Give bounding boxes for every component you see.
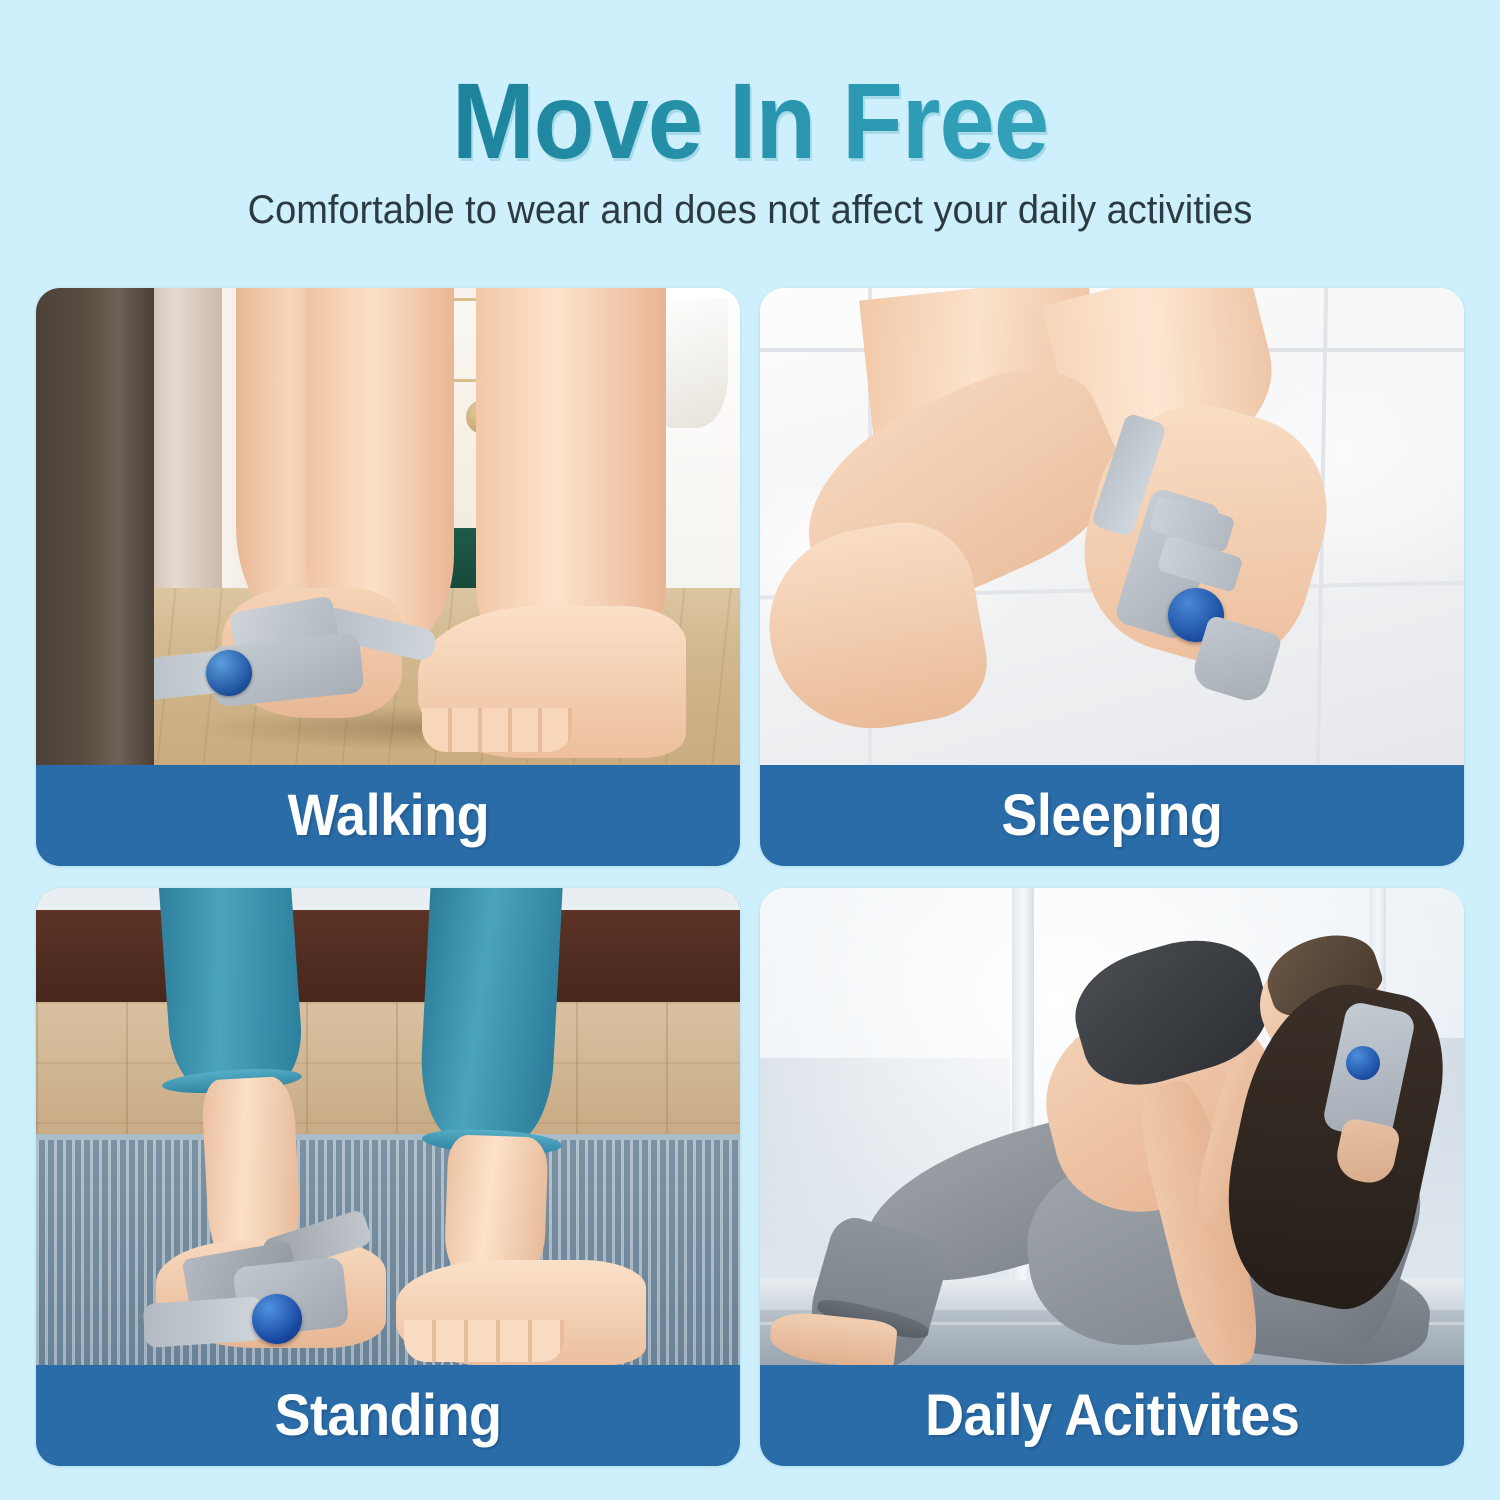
legging-left: [159, 888, 305, 1096]
card-label-standing: Standing: [36, 1365, 740, 1466]
toes: [422, 708, 572, 752]
feature-card-daily-activities[interactable]: Daily Acitivites: [760, 888, 1464, 1466]
brace-blue-knob: [1346, 1046, 1380, 1080]
card-label-text: Sleeping: [1001, 785, 1222, 847]
scene-yoga-by-window: [760, 888, 1464, 1365]
card-label-text: Walking: [287, 785, 489, 847]
wood-floor-planks: [36, 1002, 740, 1134]
feature-card-walking[interactable]: Walking: [36, 288, 740, 866]
photo-standing: [36, 888, 740, 1365]
feature-card-standing[interactable]: Standing: [36, 888, 740, 1466]
photo-daily-activities: [760, 888, 1464, 1365]
page-title: Move In Free: [60, 62, 1440, 180]
header: Move In Free Comfortable to wear and doe…: [0, 0, 1500, 288]
page-subtitle: Comfortable to wear and does not affect …: [38, 185, 1463, 235]
card-label-sleeping: Sleeping: [760, 765, 1464, 866]
brace-toe-arm: [143, 1296, 266, 1348]
scene-bedroom-floor: [36, 288, 740, 765]
scene-yoga-mat: [36, 888, 740, 1365]
foreground-pillar: [36, 288, 154, 765]
yoga-mat-edge: [36, 1134, 740, 1140]
photo-sleeping: [760, 288, 1464, 765]
scene-bed-white-linens: [760, 288, 1464, 765]
product-infographic: Move In Free Comfortable to wear and doe…: [0, 0, 1500, 1500]
toes: [404, 1320, 564, 1362]
brace-blue-knob: [252, 1294, 302, 1344]
feature-card-sleeping[interactable]: Sleeping: [760, 288, 1464, 866]
legging-right: [417, 888, 563, 1147]
baseboard: [36, 910, 740, 1002]
feature-grid: Walking: [36, 288, 1464, 1466]
photo-walking: [36, 288, 740, 765]
card-label-text: Daily Acitivites: [925, 1385, 1299, 1447]
brace-blue-knob: [206, 650, 252, 696]
curtain-left: [144, 288, 222, 618]
card-label-daily-activities: Daily Acitivites: [760, 1365, 1464, 1466]
card-label-walking: Walking: [36, 765, 740, 866]
card-label-text: Standing: [274, 1385, 501, 1447]
wall: [36, 888, 740, 910]
